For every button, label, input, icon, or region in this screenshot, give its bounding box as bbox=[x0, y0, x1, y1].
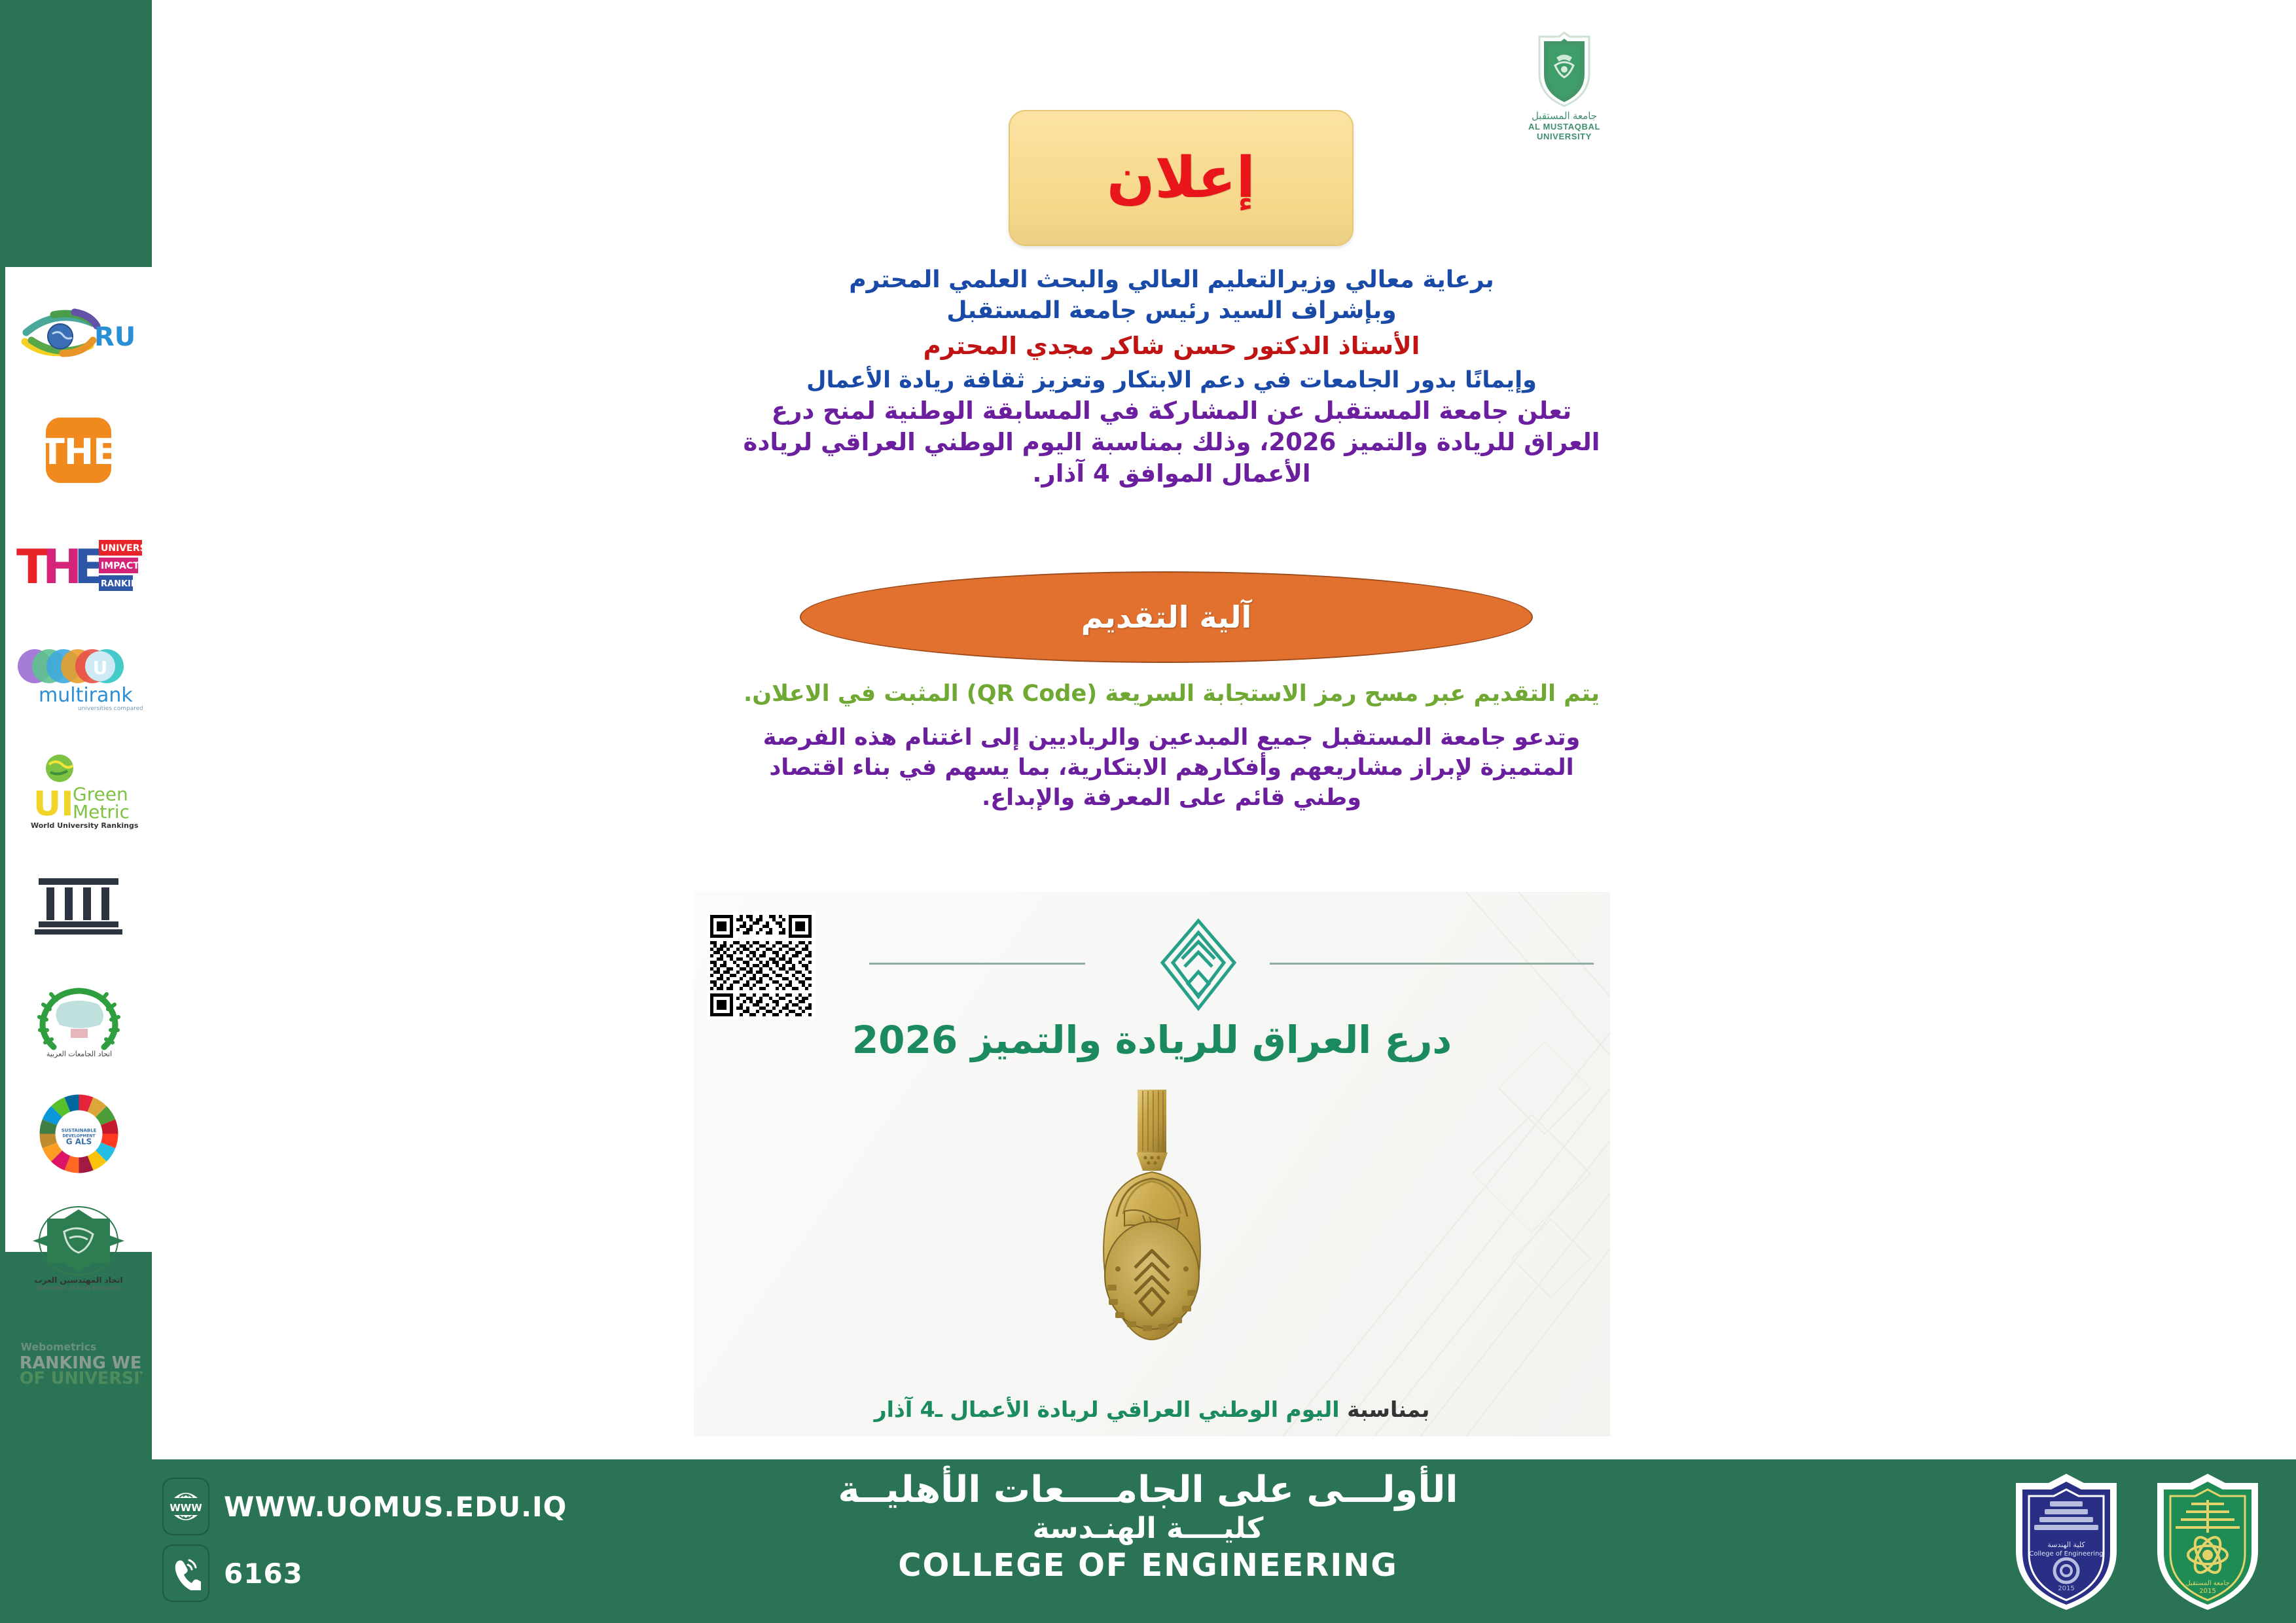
body-line-4: وإيمانًا بدور الجامعات في دعم الابتكار و… bbox=[740, 366, 1604, 396]
svg-text:اتحاد المهندسين العرب: اتحاد المهندسين العرب bbox=[34, 1275, 122, 1285]
svg-text:RUR: RUR bbox=[94, 322, 137, 352]
al-mustaqbal-university-shield-icon: جامعة المستقبل 2015 bbox=[2145, 1471, 2270, 1612]
footer-center-text: الأولـــى على الجامــــعات الأهليــة كلي… bbox=[0, 1469, 2296, 1584]
svg-text:universities compared. your wa: universities compared. your way. bbox=[78, 705, 143, 712]
ranking-logo-the-impact: T H E UNIVERSITY IMPACT RANKINGS bbox=[14, 509, 143, 619]
instruction-qr-text: يتم التقديم عبر مسح رمز الاستجابة السريع… bbox=[740, 679, 1604, 709]
section-header-label: آلية التقديم bbox=[1081, 599, 1252, 635]
svg-text:RANKINGS: RANKINGS bbox=[101, 579, 143, 589]
qr-code[interactable] bbox=[707, 912, 815, 1020]
svg-text:كلية الهندسة: كلية الهندسة bbox=[2047, 1541, 2085, 1549]
svg-text:World University Rankings: World University Rankings bbox=[31, 821, 139, 830]
svg-text:OF UNIVERSITIES: OF UNIVERSITIES bbox=[20, 1368, 143, 1387]
section-header-submission: آلية التقديم bbox=[800, 571, 1533, 663]
svg-text:SUSTAINABLE: SUSTAINABLE bbox=[61, 1128, 96, 1133]
ranking-logo-rur: RUR bbox=[14, 281, 143, 391]
ranking-logo-sdg: SUSTAINABLE DEVELOPMENT G ALS bbox=[14, 1079, 143, 1188]
announcement-body: برعاية معالي وزيرالتعليم العالي والبحث ا… bbox=[740, 265, 1604, 490]
ranking-logo-multirank: U multirank universities compared. your … bbox=[14, 623, 143, 733]
svg-text:جامعة المستقبل: جامعة المستقبل bbox=[2185, 1580, 2229, 1587]
university-name-en: AL MUSTAQBAL UNIVERSITY bbox=[1505, 122, 1623, 141]
svg-text:UI: UI bbox=[33, 785, 74, 824]
poster-divider-left bbox=[869, 963, 1085, 965]
body-line-1: برعاية معالي وزيرالتعليم العالي والبحث ا… bbox=[740, 265, 1604, 296]
university-logo: جامعة المستقبل AL MUSTAQBAL UNIVERSITY bbox=[1505, 31, 1623, 141]
body-line-2: وبإشراف السيد رئيس جامعة المستقبل bbox=[740, 296, 1604, 327]
footer-tagline-ar: الأولـــى على الجامــــعات الأهليــة bbox=[0, 1469, 2296, 1512]
svg-text:UNIVERSITY: UNIVERSITY bbox=[101, 543, 143, 554]
page-footer: WWW WWW.UOMUS.EDU.IQ bbox=[0, 1459, 2296, 1623]
svg-text:multirank: multirank bbox=[39, 684, 133, 707]
svg-text:Metric: Metric bbox=[73, 801, 130, 823]
svg-text:2015: 2015 bbox=[2058, 1585, 2074, 1592]
ranking-logo-webometrics: Webometrics RANKING WEB OF UNIVERSITIES bbox=[14, 1306, 143, 1416]
svg-text:Webometrics: Webometrics bbox=[21, 1340, 97, 1353]
body-line-5: تعلن جامعة المستقبل عن المشاركة في المسا… bbox=[740, 395, 1604, 490]
body-line-3: الأستاذ الدكتور حسن شاكر مجدي المحترم bbox=[740, 330, 1604, 362]
ranking-logo-arab-engineers: اتحاد المهندسين العرب Federation of Arab… bbox=[14, 1192, 143, 1302]
poster-caption: بمناسبة اليوم الوطني العراقي لريادة الأع… bbox=[694, 1397, 1610, 1422]
footer-college-en: COLLEGE OF ENGINEERING bbox=[0, 1546, 2296, 1585]
svg-text:IMPACT: IMPACT bbox=[101, 561, 139, 571]
submission-instructions: يتم التقديم عبر مسح رمز الاستجابة السريع… bbox=[740, 679, 1604, 813]
svg-text:Federation of Arab Engineers: Federation of Arab Engineers bbox=[35, 1285, 121, 1291]
svg-text:2015: 2015 bbox=[2199, 1588, 2215, 1595]
ranking-logo-ui-greenmetric: UI Green Metric World University Ranking… bbox=[14, 737, 143, 847]
announcement-title: إعلان bbox=[1107, 145, 1255, 211]
ranking-logo-pillars bbox=[14, 851, 143, 961]
university-name-ar: جامعة المستقبل bbox=[1505, 110, 1623, 122]
poster-divider-right bbox=[1270, 963, 1594, 965]
poster-caption-highlight: اليوم الوطني العراقي لريادة الأعمال ـ4 آ… bbox=[874, 1397, 1340, 1422]
footer-logos: كلية الهندسة College of Engineering 2015 bbox=[2004, 1471, 2270, 1612]
award-poster-image: درع العراق للريادة والتميز 2026 bbox=[694, 892, 1610, 1436]
svg-text:اتحاد الجامعات العربية: اتحاد الجامعات العربية bbox=[46, 1050, 111, 1058]
ranking-logo-arab-universities: اتحاد الجامعات العربية bbox=[14, 965, 143, 1075]
svg-text:U: U bbox=[92, 657, 107, 679]
svg-text:G ALS: G ALS bbox=[65, 1137, 92, 1146]
announcement-title-box: إعلان bbox=[1009, 110, 1354, 246]
svg-text:THE: THE bbox=[43, 431, 115, 473]
poster-caption-prefix: بمناسبة bbox=[1340, 1397, 1430, 1422]
ranking-logo-the: THE bbox=[14, 395, 143, 505]
poster-page: RUR THE T H E UNIVERSITY IMPACT RANKINGS bbox=[0, 0, 2296, 1623]
college-of-engineering-shield-icon: كلية الهندسة College of Engineering 2015 bbox=[2004, 1471, 2128, 1612]
rankings-sidebar: RUR THE T H E UNIVERSITY IMPACT RANKINGS bbox=[5, 267, 152, 1252]
university-shield-icon bbox=[1505, 31, 1623, 107]
svg-text:College of Engineering: College of Engineering bbox=[2029, 1550, 2103, 1558]
poster-title: درع العراق للريادة والتميز 2026 bbox=[694, 1018, 1610, 1062]
medal-illustration bbox=[1054, 1088, 1250, 1363]
footer-college-ar: كليــــة الهنـدسة bbox=[0, 1512, 2296, 1546]
poster-emblem-icon bbox=[1156, 916, 1241, 1014]
instruction-invite-text: وتدعو جامعة المستقبل جميع المبدعين والري… bbox=[740, 722, 1604, 813]
